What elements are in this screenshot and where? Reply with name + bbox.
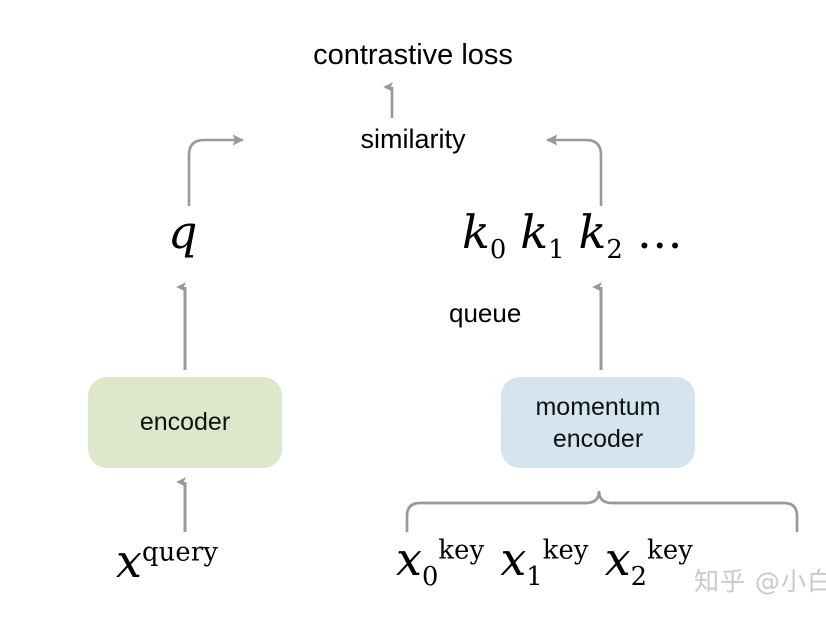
curly-brace-up-icon	[407, 491, 797, 531]
momentum-encoder-line1: momentum	[535, 393, 660, 421]
key-symbol-row: k0k1k2…	[462, 209, 685, 264]
figure-canvas: contrastive loss similarity queue q k0k1…	[0, 0, 826, 634]
key-input-symbol-1: x1key	[500, 532, 588, 586]
encoder-box-label: encoder	[140, 408, 230, 437]
key-symbol-1: k1	[520, 205, 564, 259]
encoder-box[interactable]: encoder	[88, 377, 282, 468]
query-input-symbol: xquery	[116, 538, 218, 584]
query-symbol: q	[168, 209, 197, 255]
key-symbol-2: k2	[579, 205, 623, 259]
key-input-symbol-2: x2key	[605, 532, 693, 586]
key-input-symbol-0: x0key	[396, 532, 484, 586]
queue-label: queue	[449, 299, 521, 328]
momentum-encoder-line2: encoder	[553, 425, 643, 453]
similarity-label: similarity	[0, 124, 826, 154]
key-ellipsis: …	[637, 205, 685, 259]
key-symbol-0: k0	[462, 205, 506, 259]
momentum-encoder-box-label: momentum encoder	[535, 391, 660, 455]
watermark-label: 知乎 @小白	[694, 562, 826, 598]
key-input-symbol-row: x0keyx1keyx2key	[396, 536, 709, 591]
contrastive-loss-label: contrastive loss	[0, 39, 826, 71]
momentum-encoder-box[interactable]: momentum encoder	[501, 377, 695, 468]
